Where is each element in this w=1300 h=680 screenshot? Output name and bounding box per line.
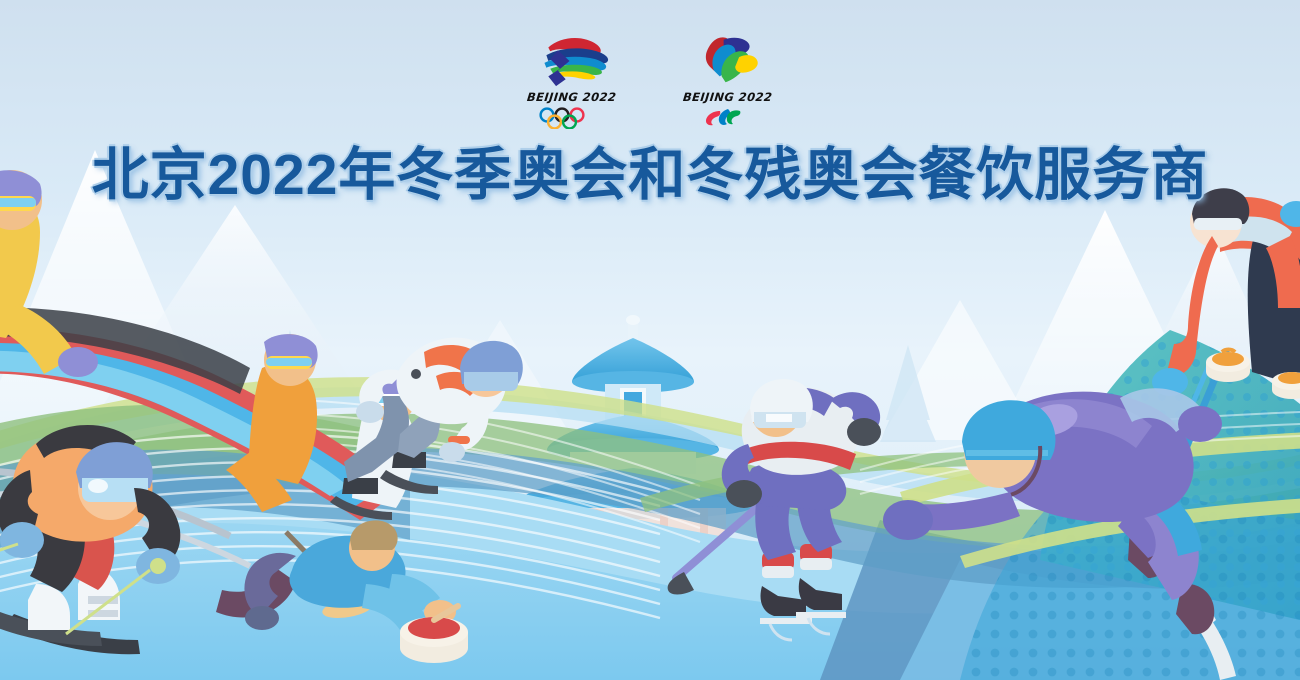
agitos-icon bbox=[696, 107, 760, 129]
prop-curling-stone-orange-2 bbox=[1272, 372, 1300, 399]
olympic-rings-icon bbox=[535, 107, 609, 129]
banner-title: 北京2022年冬季奥会和冬残奥会餐饮服务商 bbox=[0, 143, 1300, 207]
paralympic-emblem-mark bbox=[685, 32, 772, 88]
athlete-speed-skater-purple bbox=[883, 388, 1236, 680]
emblem-row: BEIJING 2022 BEIJING 2022 bbox=[0, 32, 1300, 129]
paralympic-emblem: BEIJING 2022 bbox=[673, 32, 783, 129]
olympic-wordmark: BEIJING 2022 bbox=[527, 90, 618, 104]
paralympic-wordmark: BEIJING 2022 bbox=[683, 90, 774, 104]
athlete-short-track-skater bbox=[330, 338, 523, 520]
athlete-ice-hockey-player bbox=[668, 379, 881, 640]
beijing-2022-catering-banner: BEIJING 2022 BEIJING 2022 bbox=[0, 0, 1300, 680]
olympic-emblem-mark bbox=[529, 32, 616, 88]
prop-curling-stone-orange-1 bbox=[1206, 349, 1250, 382]
olympic-emblem: BEIJING 2022 bbox=[517, 32, 627, 129]
